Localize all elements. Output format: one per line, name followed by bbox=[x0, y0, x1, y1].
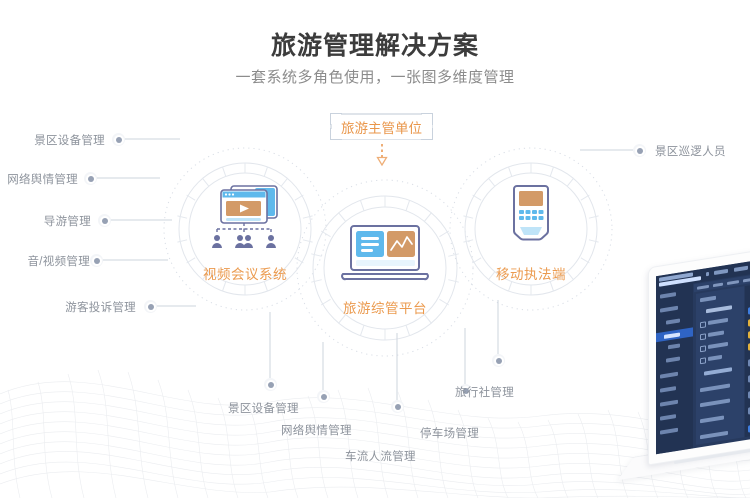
left-dot-4[interactable] bbox=[144, 300, 157, 313]
down-arrow-icon bbox=[375, 144, 389, 168]
sidebar-item-6[interactable] bbox=[660, 414, 676, 421]
dashboard-sidebar bbox=[656, 283, 693, 454]
bottom-dot-2[interactable] bbox=[391, 400, 404, 413]
topbar-menu-1 bbox=[714, 269, 728, 275]
node-label-video-conference: 视频会议系统 bbox=[185, 263, 305, 283]
subbar-item-4 bbox=[743, 277, 750, 282]
left-label-1: 网络舆情管理 bbox=[0, 171, 78, 187]
handheld-device-icon bbox=[504, 182, 558, 252]
panel-row-5 bbox=[704, 367, 732, 375]
sidebar-item-3[interactable] bbox=[660, 372, 678, 379]
bottom-label-1: 网络舆情管理 bbox=[281, 422, 352, 438]
authority-label: 旅游主管单位 bbox=[341, 117, 422, 137]
left-dot-0[interactable] bbox=[112, 133, 125, 146]
box-edge-top bbox=[341, 113, 422, 115]
node-mobile-enforcement[interactable]: 移动执法端 bbox=[471, 182, 591, 283]
node-label-tourism-platform: 旅游综管平台 bbox=[325, 297, 445, 317]
panel-row-2 bbox=[708, 330, 724, 337]
left-dot-1[interactable] bbox=[84, 172, 97, 185]
panel-row-1 bbox=[708, 318, 728, 325]
sidebar-item-5[interactable] bbox=[660, 400, 678, 407]
bottom-label-3: 停车场管理 bbox=[420, 425, 479, 441]
sidebar-subitem-3[interactable] bbox=[666, 356, 680, 362]
bottom-label-4: 旅行社管理 bbox=[455, 384, 514, 400]
subbar-item-1 bbox=[697, 284, 709, 289]
node-label-mobile-enforcement: 移动执法端 bbox=[471, 263, 591, 283]
sidebar-item-7[interactable] bbox=[660, 428, 678, 435]
node-tourism-platform[interactable]: 旅游综管平台 bbox=[325, 224, 445, 317]
bottom-dot-4[interactable] bbox=[492, 354, 505, 367]
panel-checkbox-2[interactable] bbox=[700, 333, 706, 340]
bottom-dot-0[interactable] bbox=[264, 378, 277, 391]
left-label-4: 游客投诉管理 bbox=[32, 299, 136, 315]
corner-bracket-bl bbox=[330, 128, 342, 140]
bottom-dot-1[interactable] bbox=[317, 390, 330, 403]
left-label-0: 景区设备管理 bbox=[20, 132, 105, 148]
sidebar-subitem-2[interactable] bbox=[668, 343, 680, 349]
panel-row-6 bbox=[700, 384, 730, 393]
sidebar-item-4[interactable] bbox=[660, 386, 676, 393]
bottom-label-2: 车流人流管理 bbox=[345, 448, 416, 464]
topbar-divider bbox=[706, 272, 709, 276]
bottom-label-0: 景区设备管理 bbox=[228, 400, 299, 416]
laptop-dashboard-icon bbox=[337, 224, 433, 286]
corner-bracket-tl bbox=[330, 113, 342, 125]
panel-header bbox=[700, 296, 716, 303]
panel-row-4 bbox=[708, 355, 722, 361]
panel-row-7 bbox=[700, 399, 730, 408]
right-dot-0[interactable] bbox=[633, 144, 646, 157]
panel-checkbox-3[interactable] bbox=[700, 345, 706, 352]
dashboard-main-panel bbox=[696, 286, 744, 445]
panel-row-3 bbox=[708, 342, 728, 349]
dashboard-screen bbox=[656, 260, 750, 454]
authority-box: 旅游主管单位 bbox=[330, 113, 433, 140]
video-conference-icon bbox=[203, 182, 287, 252]
right-label-0: 景区巡逻人员 bbox=[655, 143, 726, 159]
left-label-2: 导游管理 bbox=[28, 213, 91, 229]
dashboard-icon-rail bbox=[745, 284, 750, 437]
laptop-lid bbox=[648, 248, 750, 465]
sidebar-item-1[interactable] bbox=[660, 292, 676, 299]
sidebar-subitem-1[interactable] bbox=[666, 318, 680, 324]
panel-checkbox-1[interactable] bbox=[700, 321, 706, 328]
box-edge-bottom bbox=[341, 139, 422, 141]
topbar-menu-2 bbox=[734, 266, 748, 272]
page-title: 旅游管理解决方案 bbox=[0, 26, 750, 62]
left-dot-2[interactable] bbox=[98, 214, 111, 227]
corner-bracket-tr bbox=[421, 113, 433, 125]
panel-row-9 bbox=[700, 431, 728, 439]
subbar-item-2 bbox=[713, 282, 723, 287]
panel-row-8 bbox=[700, 415, 724, 423]
page-subtitle: 一套系统多角色使用，一张图多维度管理 bbox=[0, 66, 750, 87]
left-label-3: 音/视频管理 bbox=[14, 253, 90, 269]
corner-bracket-br bbox=[421, 128, 433, 140]
sidebar-active-item[interactable] bbox=[656, 327, 693, 342]
infographic-canvas: 旅游管理解决方案 一套系统多角色使用，一张图多维度管理 旅游主管单位 bbox=[0, 0, 750, 498]
left-dot-3[interactable] bbox=[90, 254, 103, 267]
subbar-item-3 bbox=[727, 280, 739, 285]
panel-row-title bbox=[706, 305, 732, 313]
node-video-conference[interactable]: 视频会议系统 bbox=[185, 182, 305, 283]
panel-checkbox-4[interactable] bbox=[700, 357, 706, 364]
sidebar-item-2[interactable] bbox=[660, 306, 678, 313]
